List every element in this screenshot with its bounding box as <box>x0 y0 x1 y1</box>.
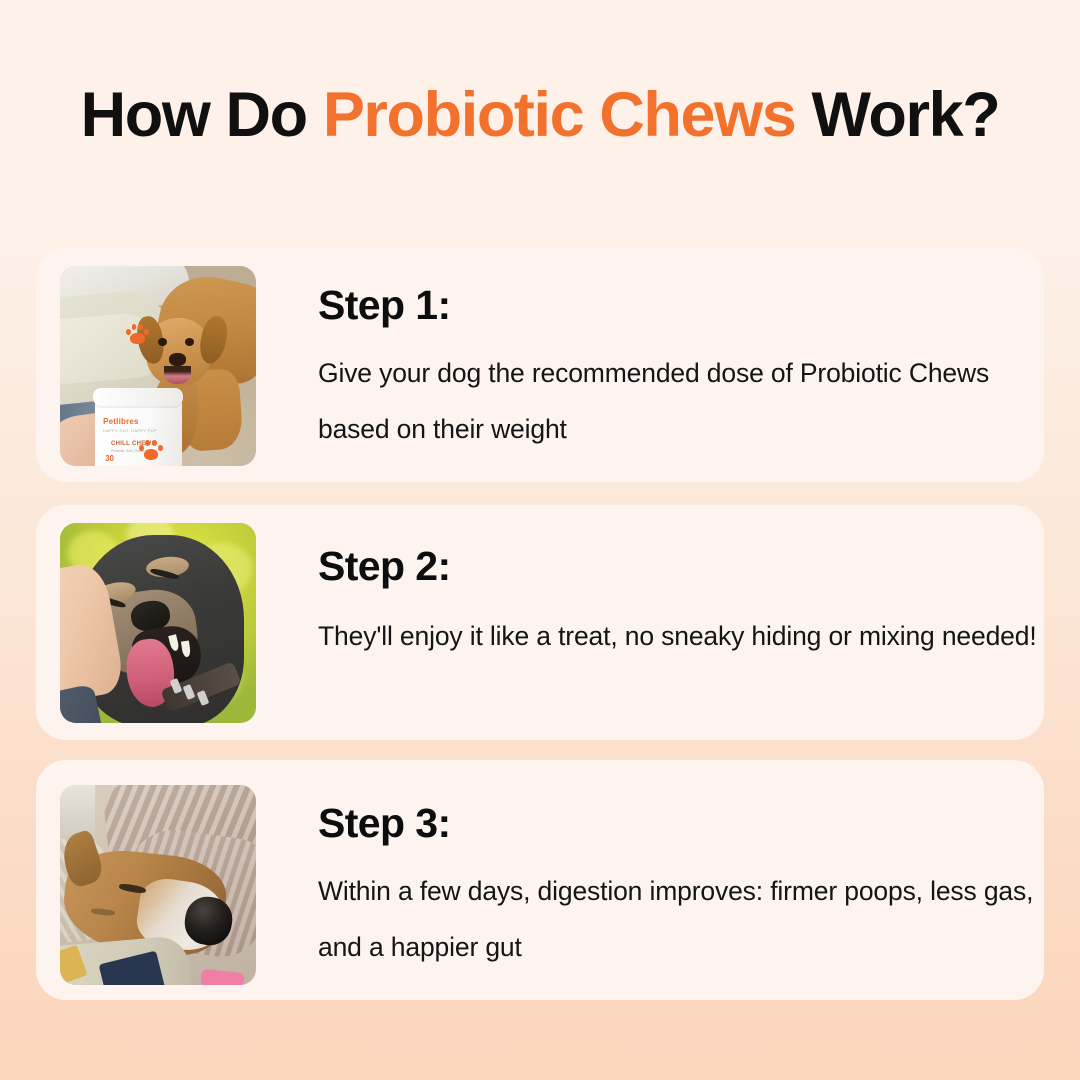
step-card-3[interactable]: Step 3: Within a few days, digestion imp… <box>36 760 1044 1000</box>
step-3-description: Within a few days, digestion improves: f… <box>318 863 1044 975</box>
step-2-body: Step 2: They'll enjoy it like a treat, n… <box>256 505 1044 664</box>
page-title-text: How Do Probiotic Chews Work? <box>0 84 1080 147</box>
product-jar-lid <box>93 388 183 406</box>
photo1-dog-nose <box>169 353 187 366</box>
happy-dog-being-petted-photo <box>60 523 256 723</box>
paw-print-icon <box>125 324 150 346</box>
photo1-dog-eye-left <box>158 338 167 346</box>
page-title: How Do Probiotic Chews Work? <box>0 84 1080 147</box>
step-3-label: Step 3: <box>318 802 1044 845</box>
step-3-body: Step 3: Within a few days, digestion imp… <box>256 760 1044 975</box>
step-1-label: Step 1: <box>318 284 1044 327</box>
photo3-cushion-pink-patch <box>200 969 245 985</box>
step-card-1[interactable]: Petlibres HAPPY GUT, HAPPY PUP CHILL CHE… <box>36 248 1044 482</box>
product-brand-tagline: HAPPY GUT, HAPPY PUP <box>103 428 157 433</box>
step-1-thumbnail: Petlibres HAPPY GUT, HAPPY PUP CHILL CHE… <box>60 266 256 466</box>
step-card-2[interactable]: Step 2: They'll enjoy it like a treat, n… <box>36 505 1044 740</box>
page-title-accent: Probiotic Chews <box>323 80 796 150</box>
product-brand-name: Petlibres <box>103 417 139 426</box>
dog-with-product-jar-photo: Petlibres HAPPY GUT, HAPPY PUP CHILL CHE… <box>60 266 256 466</box>
step-1-body: Step 1: Give your dog the recommended do… <box>256 248 1044 457</box>
step-3-thumbnail <box>60 785 256 985</box>
page-title-segment-2: Work? <box>795 80 999 150</box>
page-title-segment-1: How Do <box>81 80 323 150</box>
steps-list: Petlibres HAPPY GUT, HAPPY PUP CHILL CHE… <box>36 248 1044 1000</box>
photo1-dog-mouth <box>164 366 191 384</box>
step-2-description: They'll enjoy it like a treat, no sneaky… <box>318 608 1044 664</box>
paw-print-icon-secondary <box>138 440 163 462</box>
step-1-description: Give your dog the recommended dose of Pr… <box>318 345 1044 457</box>
product-count: 30 <box>105 454 114 463</box>
sleeping-dog-under-blanket-photo <box>60 785 256 985</box>
step-2-thumbnail <box>60 523 256 723</box>
step-2-label: Step 2: <box>318 545 1044 588</box>
